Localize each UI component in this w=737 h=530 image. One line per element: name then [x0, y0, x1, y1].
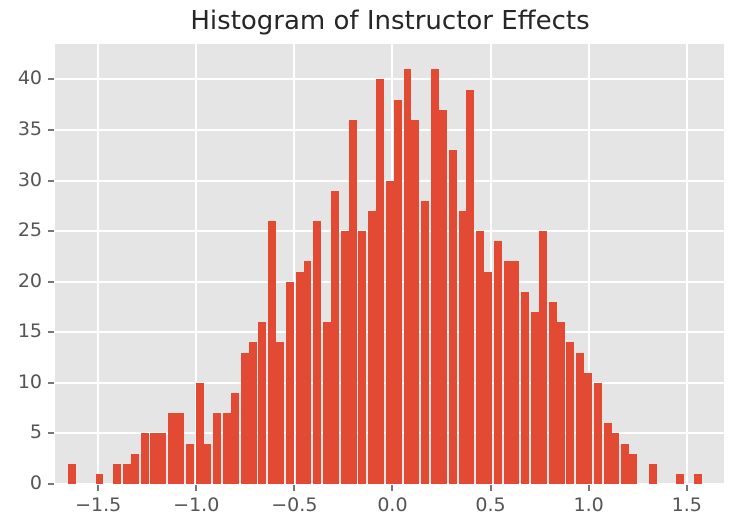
y-tick-label: 20 — [0, 270, 42, 292]
histogram-bar — [241, 353, 249, 484]
y-tick-label: 10 — [0, 371, 42, 393]
y-tick-mark — [48, 129, 54, 131]
histogram-bar — [141, 433, 149, 484]
x-tick-label: 1.0 — [549, 494, 629, 516]
histogram-bar — [466, 90, 474, 484]
y-tick-mark — [48, 180, 54, 182]
x-tick-mark — [293, 485, 295, 491]
histogram-bar — [449, 150, 457, 484]
x-tick-mark — [195, 485, 197, 491]
histogram-bar — [459, 211, 467, 484]
y-tick-mark — [48, 78, 54, 80]
histogram-bar — [521, 292, 529, 484]
histogram-bar — [341, 231, 349, 484]
y-tick-mark — [48, 432, 54, 434]
histogram-bar — [123, 464, 131, 484]
histogram-bar — [649, 464, 657, 484]
histogram-bar — [612, 433, 620, 484]
chart-title: Histogram of Instructor Effects — [55, 6, 725, 36]
histogram-bar — [394, 100, 402, 484]
x-tick-label: 0.5 — [451, 494, 531, 516]
y-tick-label: 5 — [0, 421, 42, 443]
histogram-bar — [158, 433, 166, 484]
y-tick-mark — [48, 230, 54, 232]
histogram-bar — [621, 444, 629, 484]
histogram-bar — [331, 191, 339, 484]
histogram-bar — [96, 474, 104, 484]
histogram-bar — [439, 110, 447, 484]
x-tick-label: 1.5 — [647, 494, 727, 516]
y-tick-label: 30 — [0, 169, 42, 191]
histogram-bar — [213, 413, 221, 484]
histogram-bar — [584, 373, 592, 484]
histogram-bar — [196, 383, 204, 484]
plot-area — [55, 44, 724, 484]
histogram-bar — [231, 393, 239, 484]
histogram-bar — [557, 322, 565, 484]
histogram-bar — [131, 454, 139, 484]
histogram-bar — [168, 413, 176, 484]
gridline-horizontal — [55, 129, 724, 131]
histogram-bar — [404, 69, 412, 484]
histogram-bar — [113, 464, 121, 484]
histogram-bar — [223, 413, 231, 484]
histogram-bar — [629, 454, 637, 484]
histogram-bar — [386, 181, 394, 484]
histogram-bar — [566, 342, 574, 484]
histogram-bar — [676, 474, 684, 484]
histogram-bar — [376, 79, 384, 484]
histogram-bar — [476, 231, 484, 484]
y-tick-label: 0 — [0, 472, 42, 494]
histogram-bar — [594, 383, 602, 484]
x-tick-mark — [97, 485, 99, 491]
histogram-bar — [150, 433, 158, 484]
histogram-bar — [531, 312, 539, 484]
histogram-bar — [431, 69, 439, 484]
histogram-bar — [539, 231, 547, 484]
histogram-bar — [484, 272, 492, 484]
histogram-bar — [511, 261, 519, 484]
histogram-bar — [323, 322, 331, 484]
y-tick-mark — [48, 483, 54, 485]
histogram-bar — [304, 261, 312, 484]
histogram-bar — [313, 221, 321, 484]
histogram-bar — [276, 342, 284, 484]
y-tick-mark — [48, 382, 54, 384]
y-tick-label: 25 — [0, 219, 42, 241]
histogram-bar — [258, 322, 266, 484]
gridline-vertical — [97, 44, 99, 484]
histogram-bar — [68, 464, 76, 484]
x-tick-mark — [588, 485, 590, 491]
histogram-bar — [203, 444, 211, 484]
histogram-bar — [186, 444, 194, 484]
histogram-bar — [576, 353, 584, 484]
histogram-bar — [176, 413, 184, 484]
y-tick-label: 15 — [0, 320, 42, 342]
histogram-bar — [268, 221, 276, 484]
x-tick-mark — [686, 485, 688, 491]
histogram-bar — [286, 282, 294, 484]
histogram-bar — [249, 342, 257, 484]
histogram-bar — [349, 120, 357, 484]
histogram-bar — [504, 261, 512, 484]
x-tick-label: −0.5 — [254, 494, 334, 516]
x-tick-label: −1.0 — [156, 494, 236, 516]
histogram-bar — [421, 201, 429, 484]
gridline-horizontal — [55, 78, 724, 80]
x-tick-mark — [391, 485, 393, 491]
histogram-bar — [358, 231, 366, 484]
histogram-bar — [411, 120, 419, 484]
histogram-bar — [694, 474, 702, 484]
histogram-bar — [368, 211, 376, 484]
histogram-bar — [604, 423, 612, 484]
y-tick-mark — [48, 281, 54, 283]
histogram-bar — [494, 241, 502, 484]
gridline-vertical — [686, 44, 688, 484]
histogram-figure: Histogram of Instructor Effects 05101520… — [0, 0, 737, 530]
x-tick-label: −1.5 — [58, 494, 138, 516]
histogram-bar — [549, 302, 557, 484]
y-tick-label: 35 — [0, 118, 42, 140]
x-tick-mark — [490, 485, 492, 491]
y-tick-mark — [48, 331, 54, 333]
x-tick-label: 0.0 — [352, 494, 432, 516]
histogram-bar — [296, 272, 304, 484]
y-tick-label: 40 — [0, 67, 42, 89]
